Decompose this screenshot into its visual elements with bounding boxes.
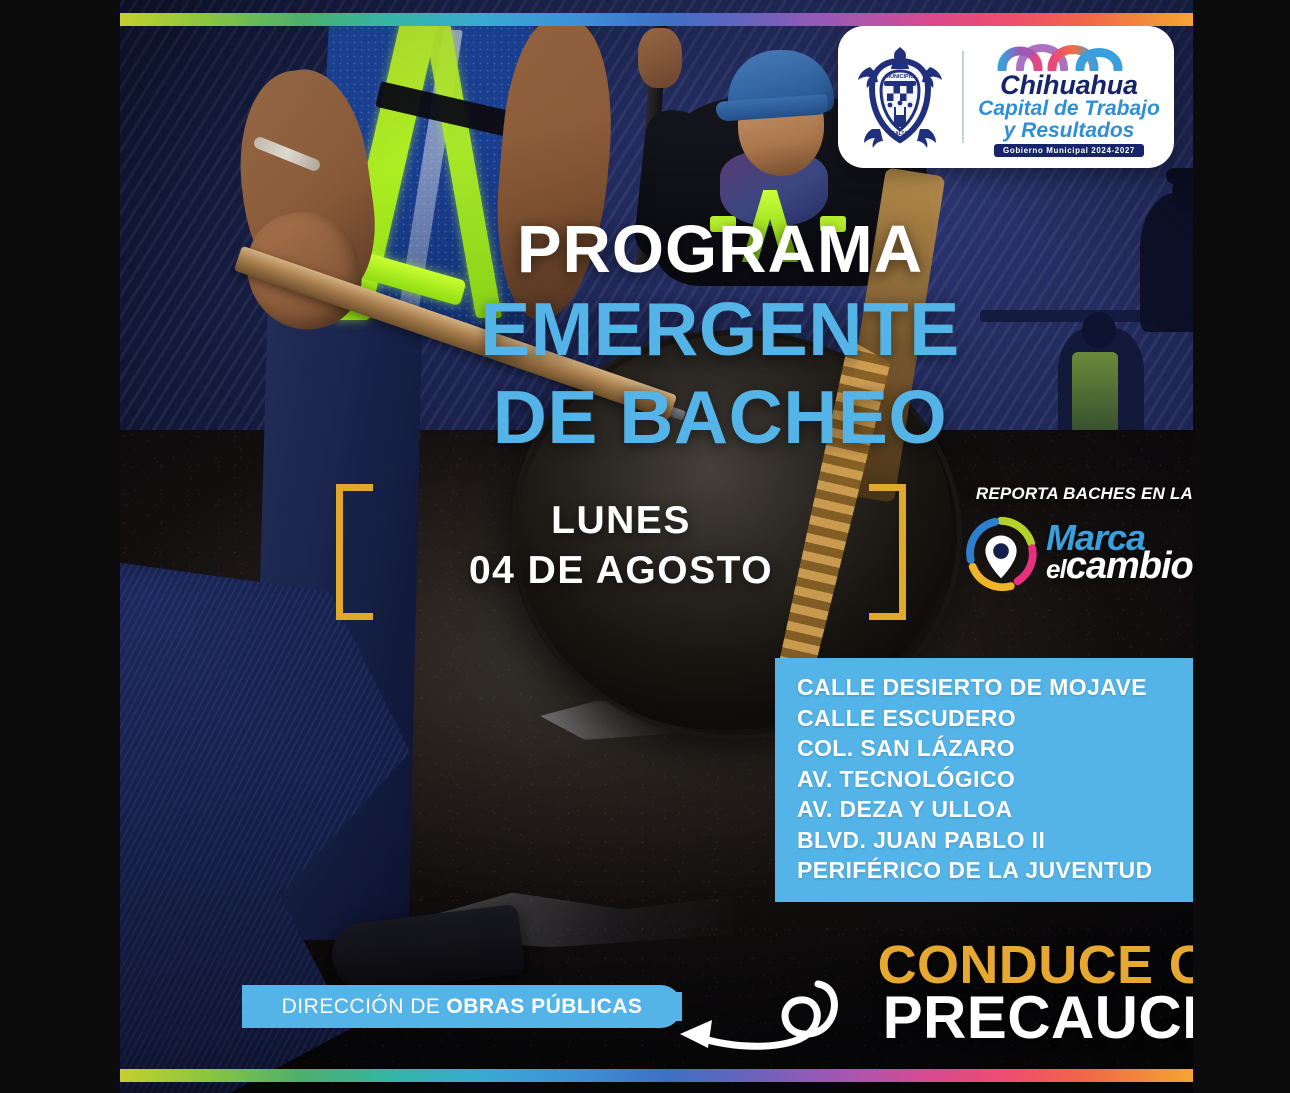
bracket-right-icon xyxy=(869,484,906,620)
app-wordmark: Marca elcambio xyxy=(1046,523,1193,583)
screenshot-canvas: MUNICIPIO LEALTAD xyxy=(0,0,1290,1093)
app-name-line-2: elcambio xyxy=(1046,550,1193,583)
street-list: CALLE DESIERTO DE MOJAVE CALLE ESCUDERO … xyxy=(797,672,1193,886)
logo-divider xyxy=(962,51,964,143)
brand-line-1: Chihuahua xyxy=(1000,72,1138,98)
app-name-cambio: cambio xyxy=(1066,545,1193,587)
headline-line-3: DE BACHEO xyxy=(360,380,1080,455)
svg-text:LEALTAD: LEALTAD xyxy=(889,131,912,137)
chihuahua-arches-icon xyxy=(994,37,1144,71)
list-item: AV. TECNOLÓGICO xyxy=(797,764,1193,795)
list-item: PERIFÉRICO DE LA JUVENTUD xyxy=(797,855,1193,886)
date-full: 04 DE AGOSTO xyxy=(392,546,850,596)
report-app-label: REPORTA BACHES EN LA APP: xyxy=(962,484,1193,504)
map-pin-ring-icon xyxy=(962,514,1040,592)
brand-government-period: Gobierno Municipal 2024-2027 xyxy=(994,144,1144,157)
bottom-gradient-rail xyxy=(120,1069,1193,1082)
date-day: LUNES xyxy=(392,496,850,546)
list-item: CALLE DESIERTO DE MOJAVE xyxy=(797,672,1193,703)
street-list-panel: CALLE DESIERTO DE MOJAVE CALLE ESCUDERO … xyxy=(775,658,1193,902)
department-badge: DIRECCIÓN DE OBRAS PÚBLICAS xyxy=(242,985,682,1028)
headline-line-2: EMERGENTE xyxy=(360,292,1080,367)
department-name: OBRAS PÚBLICAS xyxy=(446,995,642,1019)
warning-line-2: PRECAUCIÓN xyxy=(780,988,1193,1048)
bacheo-program-poster: MUNICIPIO LEALTAD xyxy=(120,0,1193,1093)
list-item: COL. SAN LÁZARO xyxy=(797,733,1193,764)
chihuahua-brand-lockup: Chihuahua Capital de Trabajo y Resultado… xyxy=(974,37,1174,157)
app-name-el: el xyxy=(1046,554,1066,584)
top-gradient-rail xyxy=(120,13,1193,26)
headline-line-1: PROGRAMA xyxy=(420,216,1020,283)
coat-of-arms-icon: MUNICIPIO LEALTAD xyxy=(848,42,952,152)
list-item: BLVD. JUAN PABLO II xyxy=(797,825,1193,856)
bracket-left-icon xyxy=(336,484,373,620)
brand-line-2: Capital de Trabajo xyxy=(978,98,1160,119)
list-item: AV. DEZA Y ULLOA xyxy=(797,794,1193,825)
date-block: LUNES 04 DE AGOSTO xyxy=(336,484,906,606)
marca-el-cambio-logo[interactable]: Marca elcambio xyxy=(962,514,1193,592)
poster-content: MUNICIPIO LEALTAD xyxy=(120,0,1193,1093)
brand-line-3: y Resultados xyxy=(1004,120,1135,141)
report-app-block: REPORTA BACHES EN LA APP: Marca xyxy=(962,484,1193,592)
government-logo-card: MUNICIPIO LEALTAD xyxy=(838,26,1174,168)
date-text: LUNES 04 DE AGOSTO xyxy=(392,496,850,596)
svg-text:MUNICIPIO: MUNICIPIO xyxy=(885,74,915,80)
department-prefix: DIRECCIÓN DE xyxy=(282,995,441,1019)
list-item: CALLE ESCUDERO xyxy=(797,703,1193,734)
